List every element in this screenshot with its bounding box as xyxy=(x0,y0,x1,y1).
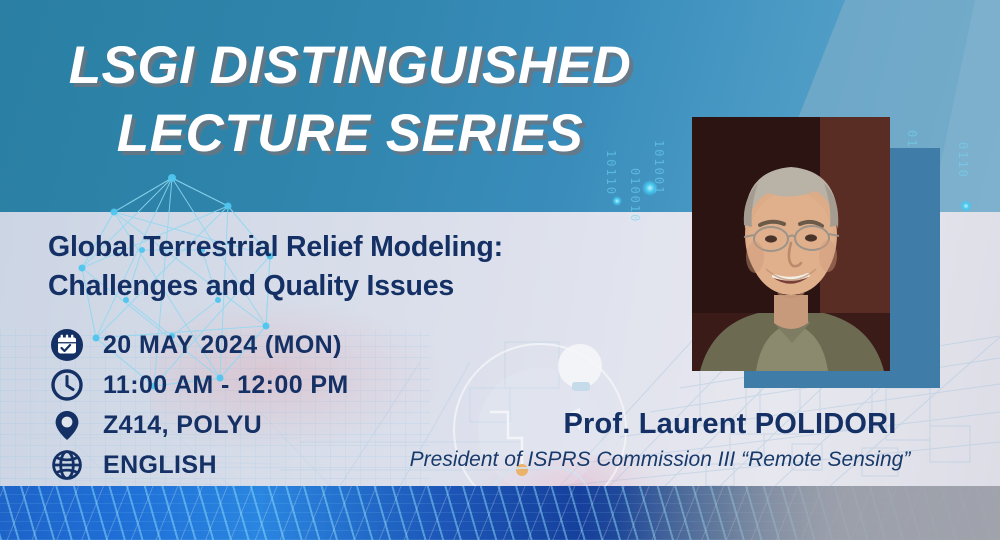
detail-row-time: 11:00 AM - 12:00 PM xyxy=(48,365,478,405)
speaker-photo xyxy=(692,117,890,371)
detail-text-date: 20 MAY 2024 (MON) xyxy=(103,331,342,360)
detail-row-date: 20 MAY 2024 (MON) xyxy=(48,325,478,365)
globe-icon xyxy=(48,446,86,484)
calendar-icon xyxy=(48,326,86,364)
lecture-poster: 10110 010010 101001 0101 100101 0110 xyxy=(0,0,1000,540)
detail-text-language: ENGLISH xyxy=(103,451,217,480)
location-pin-icon xyxy=(48,406,86,444)
detail-text-venue: Z414, POLYU xyxy=(103,411,262,440)
title-line-2: LECTURE SERIES xyxy=(0,100,700,168)
lecture-subtitle: Global Terrestrial Relief Modeling: Chal… xyxy=(48,228,668,306)
speaker-affiliation: President of ISPRS Commission III “Remot… xyxy=(330,448,990,472)
detail-text-time: 11:00 AM - 12:00 PM xyxy=(103,371,349,400)
title-line-1: LSGI DISTINGUISHED xyxy=(0,32,700,100)
page-title: LSGI DISTINGUISHED LECTURE SERIES xyxy=(0,32,700,168)
speaker-name: Prof. Laurent POLIDORI xyxy=(480,408,980,441)
subtitle-line-2: Challenges and Quality Issues xyxy=(48,267,668,306)
clock-icon xyxy=(48,366,86,404)
binary-decoration-6: 0110 xyxy=(956,142,969,179)
glow-dot-3 xyxy=(612,196,622,206)
detail-row-venue: Z414, POLYU xyxy=(48,405,478,445)
binary-decoration-2: 010010 xyxy=(628,168,641,223)
subtitle-line-1: Global Terrestrial Relief Modeling: xyxy=(48,228,668,267)
glow-dot-4 xyxy=(960,200,972,212)
glow-dot-1 xyxy=(642,180,658,196)
bottom-band-fade xyxy=(620,486,1000,540)
